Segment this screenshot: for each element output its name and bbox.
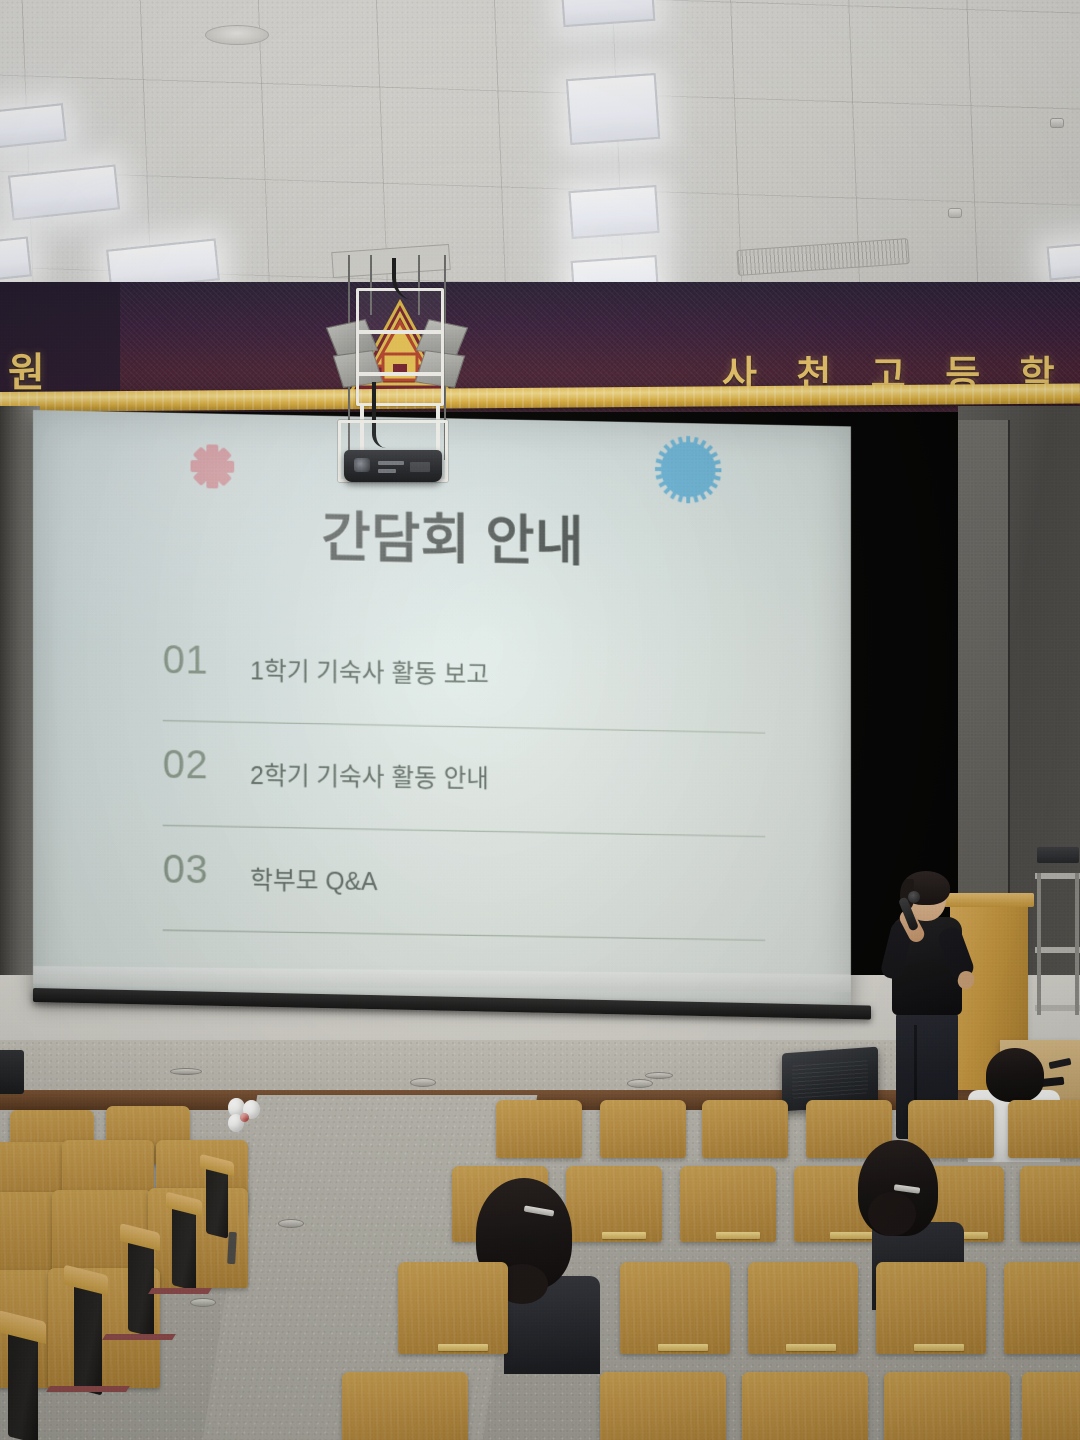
screen-bottom-band <box>33 966 851 992</box>
seat <box>742 1372 868 1440</box>
agenda-divider <box>163 825 766 837</box>
seat-nameplate <box>786 1344 836 1351</box>
floor-outlet <box>190 1298 216 1307</box>
foreground-equipment <box>0 1050 24 1094</box>
seat-armrest <box>128 1237 154 1337</box>
seat <box>680 1166 776 1242</box>
seat-armrest <box>8 1326 38 1440</box>
agenda-label: 2학기 기숙사 활동 안내 <box>250 756 489 795</box>
microphone-head <box>908 891 920 903</box>
floor-outlet <box>410 1078 436 1087</box>
agenda-item: 01 1학기 기숙사 활동 보고 <box>163 630 773 744</box>
aisle-step-rail <box>102 1334 176 1340</box>
seat-nameplate <box>602 1232 646 1239</box>
ceiling-light-panel <box>1047 241 1080 280</box>
seat-nameplate <box>658 1344 708 1351</box>
projector-vent <box>378 469 396 473</box>
seat-back <box>702 1100 788 1158</box>
seat <box>620 1262 730 1354</box>
agenda-number: 01 <box>163 638 209 684</box>
seat-back <box>600 1100 686 1158</box>
slide-surface: 간담회 안내 01 1학기 기숙사 활동 보고 02 2학기 기숙사 활동 안내… <box>33 410 851 1008</box>
projector-vent <box>378 461 404 465</box>
projector-lens <box>354 458 370 472</box>
audience-hair-bun <box>868 1192 916 1236</box>
seat-armrest <box>172 1203 196 1291</box>
ceiling-speaker <box>205 25 269 45</box>
ceiling-light-panel <box>0 236 32 283</box>
agenda-item: 03 학부모 Q&A <box>163 840 773 951</box>
agenda-number: 02 <box>163 743 209 789</box>
seat-nameplate <box>438 1344 488 1351</box>
aisle-step-rail <box>148 1288 212 1294</box>
equipment-cart <box>1035 855 1080 1025</box>
seat-nameplate <box>914 1344 964 1351</box>
seat-armrest <box>74 1281 102 1396</box>
agenda-divider <box>163 720 766 734</box>
wall-cable-clip <box>170 1068 202 1075</box>
ceiling <box>0 0 1080 300</box>
agenda-item: 02 2학기 기숙사 활동 안내 <box>163 735 773 847</box>
seat <box>884 1372 1010 1440</box>
projection-screen: 간담회 안내 01 1학기 기숙사 활동 보고 02 2학기 기숙사 활동 안내… <box>33 410 851 1008</box>
seat <box>748 1262 858 1354</box>
seat <box>1020 1166 1080 1242</box>
agenda-label: 학부모 Q&A <box>250 861 377 898</box>
ceiling-light-panel <box>566 73 660 145</box>
agenda-divider <box>163 930 766 941</box>
blue-sunburst-circle-icon <box>654 434 722 505</box>
seat <box>600 1372 726 1440</box>
aisle-step-rail <box>46 1386 130 1392</box>
pink-asterisk-star-icon <box>188 441 238 492</box>
agenda-list: 01 1학기 기숙사 활동 보고 02 2학기 기숙사 활동 안내 03 학부모… <box>163 630 773 951</box>
seat-back <box>496 1100 582 1158</box>
sprinkler-head <box>948 208 962 218</box>
seat-armrest <box>206 1163 228 1238</box>
ceiling-projector <box>344 450 442 482</box>
ceiling-light-panel <box>568 185 659 239</box>
seat <box>1004 1262 1080 1354</box>
seat-nameplate <box>716 1232 760 1239</box>
floor-outlet <box>278 1219 304 1228</box>
audience-hair <box>986 1048 1044 1102</box>
floor-outlet <box>627 1079 653 1088</box>
seat <box>342 1372 468 1440</box>
cart-equipment <box>1037 847 1079 863</box>
seat <box>876 1262 986 1354</box>
wall-cable-clip <box>645 1072 673 1079</box>
projector-mount-cage-upper <box>356 288 444 406</box>
sprinkler-head <box>1050 118 1064 128</box>
agenda-label: 1학기 기숙사 활동 보고 <box>250 651 489 691</box>
mount-crossbar <box>356 372 444 376</box>
mount-crossbar <box>356 330 444 334</box>
slide-title: 간담회 안내 <box>321 493 584 576</box>
projector-label <box>410 462 430 472</box>
balloon-red <box>240 1113 249 1122</box>
agenda-number: 03 <box>163 848 209 893</box>
seat <box>1022 1372 1080 1440</box>
banner-text-left: 원 <box>8 340 60 398</box>
seat <box>398 1262 508 1354</box>
seat-leg <box>227 1232 237 1264</box>
seat-back <box>1008 1100 1080 1158</box>
auditorium-photo: 원 사 천 고 등 학 교 <box>0 0 1080 1440</box>
